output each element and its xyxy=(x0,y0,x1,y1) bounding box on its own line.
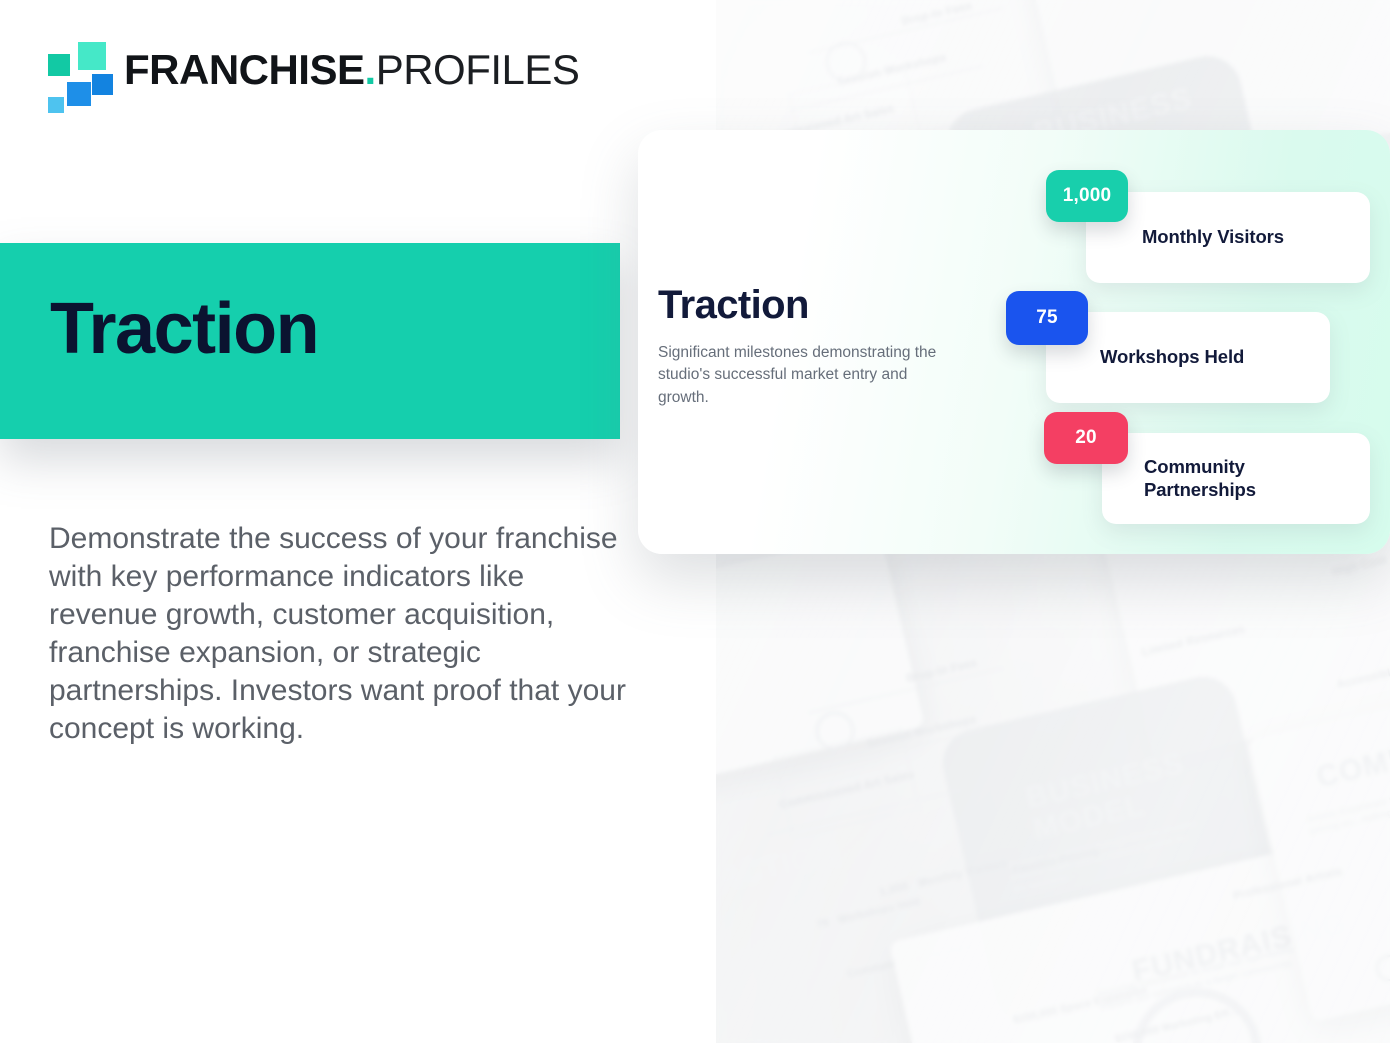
brand-word-franchise: FRANCHISE xyxy=(124,46,365,93)
stat-label-community-partnerships: Community Partnerships xyxy=(1144,456,1256,501)
brand-logo[interactable]: FRANCHISE.PROFILES xyxy=(48,42,579,98)
logo-square-teal xyxy=(48,54,70,76)
stat-label-monthly-visitors: Monthly Visitors xyxy=(1142,226,1284,249)
stat-badge-community-partnerships[interactable]: 20 xyxy=(1044,412,1128,464)
stat-badge-monthly-visitors[interactable]: 1,000 xyxy=(1046,170,1128,222)
slide-canvas: BUSINESS MODEL Revenue generation throug… xyxy=(0,0,1390,1043)
traction-card-title: Traction xyxy=(658,285,988,325)
logo-square-blue-right xyxy=(92,74,113,95)
brand-wordmark: FRANCHISE.PROFILES xyxy=(124,49,579,91)
section-banner: Traction xyxy=(0,243,620,439)
logo-square-lightblue xyxy=(48,97,64,113)
logo-squares-icon xyxy=(48,42,104,98)
traction-card-subtitle: Significant milestones demonstrating the… xyxy=(658,342,958,409)
traction-card-text-block: Traction Significant milestones demonstr… xyxy=(658,285,988,409)
logo-square-blue-center xyxy=(67,82,91,106)
stat-panel-community-partnerships: Community Partnerships xyxy=(1102,433,1370,524)
stat-label-workshops-held: Workshops Held xyxy=(1100,346,1244,369)
brand-word-profiles: PROFILES xyxy=(376,46,580,93)
brand-word-dot: . xyxy=(365,46,376,93)
logo-square-mint xyxy=(78,42,106,70)
section-title: Traction xyxy=(50,293,318,365)
stat-panel-monthly-visitors: Monthly Visitors xyxy=(1086,192,1370,283)
stat-panel-workshops-held: Workshops Held xyxy=(1046,312,1330,403)
section-description: Demonstrate the success of your franchis… xyxy=(49,520,629,749)
traction-card: Traction Significant milestones demonstr… xyxy=(638,130,1390,554)
stat-badge-workshops-held[interactable]: 75 xyxy=(1006,291,1088,345)
